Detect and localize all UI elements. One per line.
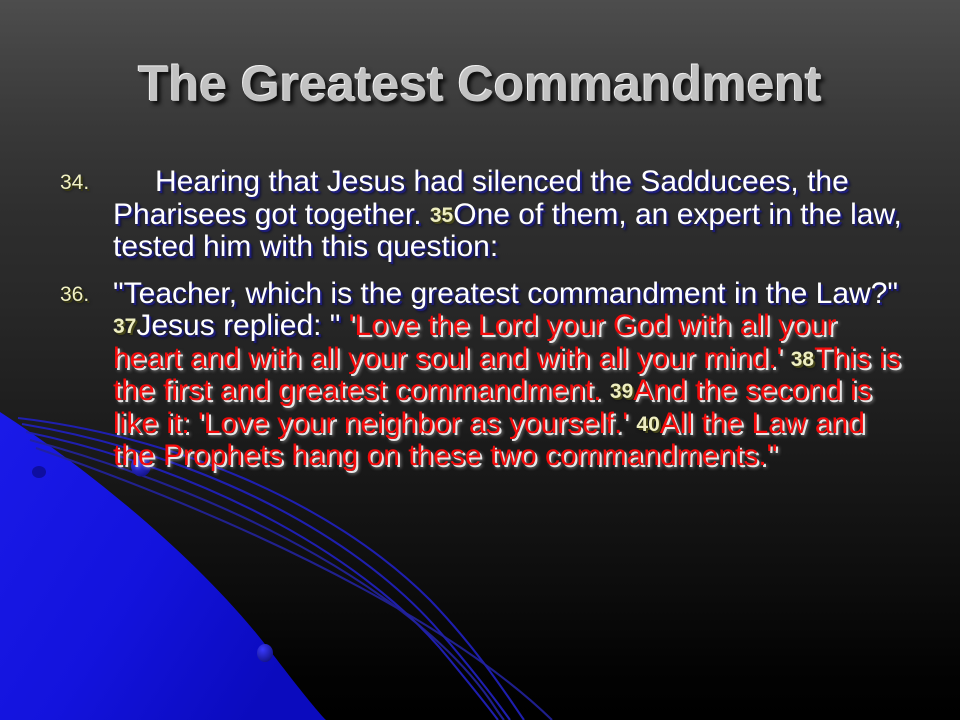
slide-canvas: The Greatest Commandment 34.Hearing that… — [0, 0, 960, 720]
paragraph-number: 34. — [60, 172, 89, 195]
verse-number: 35 — [430, 204, 453, 227]
verse-number: 38 — [791, 348, 814, 371]
verse-number: 39 — [610, 380, 633, 403]
body-text-run: Jesus replied: " — [136, 309, 348, 342]
slide-body: 34.Hearing that Jesus had silenced the S… — [56, 166, 912, 487]
body-paragraph: 34.Hearing that Jesus had silenced the S… — [56, 166, 912, 264]
slide-title: The Greatest Commandment — [0, 55, 960, 113]
body-text-run: "Teacher, which is the greatest commandm… — [113, 277, 898, 310]
paragraph-number: 36. — [60, 284, 89, 307]
wedge-dimple-dot — [32, 466, 46, 478]
arc-bead-lower — [257, 644, 273, 662]
body-paragraph: 36."Teacher, which is the greatest comma… — [56, 278, 912, 473]
verse-number: 40 — [636, 413, 659, 436]
verse-number: 37 — [113, 315, 136, 338]
